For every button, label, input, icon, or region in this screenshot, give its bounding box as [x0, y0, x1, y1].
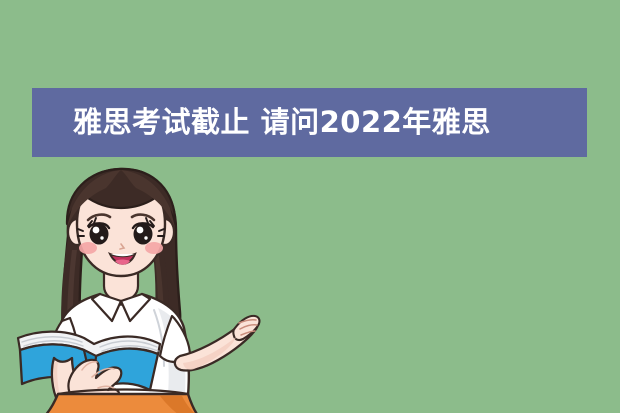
eye-right-icon [134, 224, 153, 245]
eye-left-sparkle-icon [100, 236, 103, 239]
title-banner: 雅思考试截止 请问2022年雅思 [32, 88, 587, 157]
blush-right-icon [145, 242, 163, 254]
eye-right-sparkle-icon [144, 236, 147, 239]
eye-right-highlight-icon [137, 227, 144, 234]
page-title: 雅思考试截止 请问2022年雅思 [73, 108, 491, 137]
eye-left-highlight-icon [93, 227, 100, 234]
cartoon-girl-illustration [8, 158, 268, 413]
blush-left-icon [79, 242, 97, 254]
eye-left-icon [90, 224, 109, 245]
poster-card: 雅思考试截止 请问2022年雅思 [0, 0, 620, 413]
